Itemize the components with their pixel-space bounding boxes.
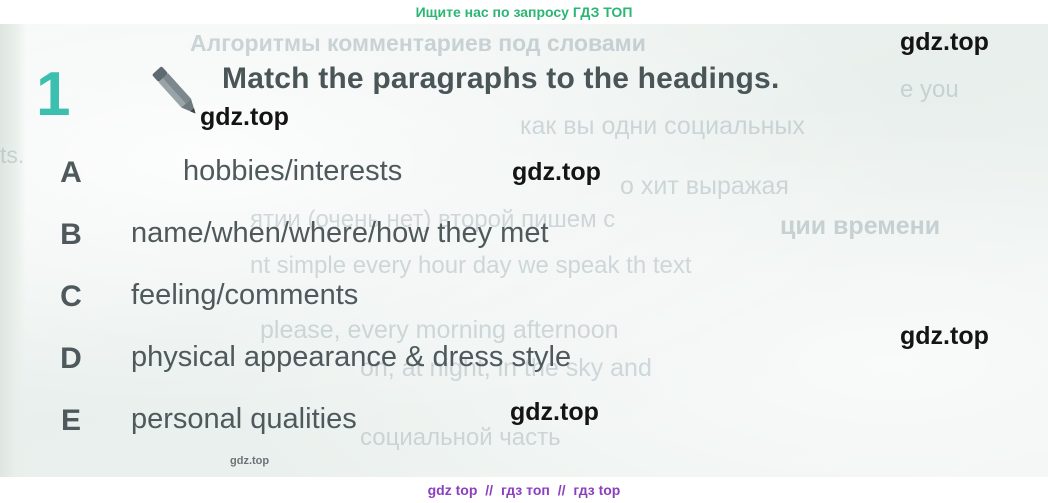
watermark: gdz.top — [510, 398, 599, 427]
ghost-text: ts. — [0, 142, 24, 169]
bottom-banner-middle: гдз топ — [501, 482, 550, 498]
watermark-small: gdz.top — [230, 455, 269, 467]
top-banner: Ищите нас по запросу ГДЗ ТОП — [0, 0, 1048, 24]
watermark: gdz.top — [200, 103, 289, 132]
watermark: gdz.top — [512, 158, 601, 187]
page-left-edge — [0, 24, 26, 477]
item-letter-c: C — [48, 280, 94, 314]
bottom-banner: gdz top // гдз топ // гдз top — [0, 477, 1048, 503]
item-text-a: hobbies/interests — [183, 155, 402, 188]
bottom-banner-left: gdz top — [428, 482, 478, 498]
item-letter-e: E — [48, 404, 94, 438]
bottom-banner-sep-2: // — [554, 482, 570, 498]
bottom-banner-right: гдз top — [573, 482, 620, 498]
item-text-e: personal qualities — [131, 403, 357, 436]
ghost-text: о хит выражая — [620, 172, 789, 201]
bottom-banner-sep-1: // — [481, 482, 497, 498]
ghost-text: как вы одни социальных — [520, 112, 805, 141]
exercise-number: 1 — [36, 64, 70, 126]
item-letter-d: D — [48, 342, 94, 376]
item-letter-b: B — [48, 218, 94, 252]
ghost-text: nt simple every hour day we speak th tex… — [250, 252, 692, 280]
item-text-b: name/when/where/how they met — [131, 217, 549, 250]
page-root: Ищите нас по запросу ГДЗ ТОП Алгоритмы к… — [0, 0, 1048, 503]
ghost-text: e you — [900, 76, 959, 104]
ghost-text: ции времени — [780, 212, 940, 241]
exercise-title: Match the paragraphs to the headings. — [222, 62, 779, 96]
ghost-text: социальной часть — [360, 424, 561, 452]
item-letter-a: A — [48, 156, 94, 190]
item-text-c: feeling/comments — [131, 279, 358, 312]
watermark: gdz.top — [900, 28, 989, 57]
ghost-text: Алгоритмы комментариев под словами — [190, 30, 646, 57]
watermark: gdz.top — [900, 322, 989, 351]
item-text-d: physical appearance & dress style — [131, 341, 571, 374]
